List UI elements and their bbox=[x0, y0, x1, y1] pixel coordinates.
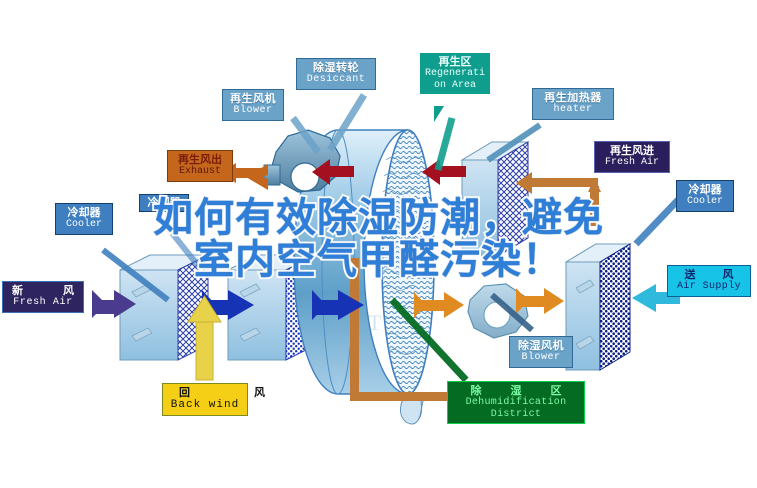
callout-tail-regeneration-area bbox=[434, 106, 444, 122]
label-exhaust[interactable]: 再生风出 Exhaust bbox=[167, 150, 233, 182]
dehumidifier-schematic: XT bbox=[0, 0, 757, 488]
label-desiccant-en: Desiccant bbox=[299, 74, 373, 85]
label-dehumidification-district-cn: 除 湿 区 bbox=[450, 385, 582, 397]
label-back-wind[interactable]: 回 风 Back wind bbox=[162, 383, 248, 416]
label-back-wind-en: Back wind bbox=[165, 399, 245, 411]
supply-filter-unit bbox=[566, 244, 630, 370]
diagram-canvas: XT bbox=[0, 0, 757, 488]
label-regeneration-area-en2: on Area bbox=[422, 80, 488, 91]
label-regeneration-area-cn: 再生区 bbox=[422, 56, 488, 68]
label-exhaust-cn: 再生风出 bbox=[170, 154, 230, 166]
regeneration-heater-unit bbox=[462, 142, 528, 256]
label-regeneration-fresh-air[interactable]: 再生风进 Fresh Air bbox=[594, 141, 670, 173]
label-regeneration-area[interactable]: 再生区 Regenerati on Area bbox=[420, 53, 490, 94]
label-dehumidification-district-en2: District bbox=[450, 409, 582, 420]
label-cooler-right[interactable]: 冷却器 Cooler bbox=[676, 180, 734, 212]
label-regeneration-blower-cn: 再生风机 bbox=[225, 93, 281, 105]
label-exhaust-en: Exhaust bbox=[170, 166, 230, 177]
label-dehumidification-blower-en: Blower bbox=[512, 352, 570, 363]
label-regeneration-fresh-air-en: Fresh Air bbox=[597, 157, 667, 168]
label-regeneration-blower-en: Blower bbox=[225, 105, 281, 116]
label-regeneration-heater[interactable]: 再生加热器 heater bbox=[532, 88, 614, 120]
label-regeneration-area-en1: Regenerati bbox=[422, 68, 488, 79]
label-fresh-air-en: Fresh Air bbox=[5, 297, 81, 308]
label-regeneration-blower[interactable]: 再生风机 Blower bbox=[222, 89, 284, 121]
label-cooler-middle[interactable]: 冷却器 bbox=[139, 194, 189, 212]
label-back-wind-cn: 回 风 bbox=[165, 387, 245, 399]
label-cooler-left[interactable]: 冷却器 Cooler bbox=[55, 203, 113, 235]
label-air-supply-cn: 送 风 bbox=[670, 269, 748, 281]
label-desiccant[interactable]: 除湿转轮 Desiccant bbox=[296, 58, 376, 90]
label-cooler-left-cn: 冷却器 bbox=[58, 207, 110, 219]
label-dehumidification-district-en1: Dehumidification bbox=[450, 397, 582, 408]
label-air-supply[interactable]: 送 风 Air Supply bbox=[667, 265, 751, 297]
label-desiccant-cn: 除湿转轮 bbox=[299, 62, 373, 74]
label-cooler-right-en: Cooler bbox=[679, 196, 731, 207]
label-dehumidification-blower-cn: 除湿风机 bbox=[512, 340, 570, 352]
label-cooler-left-en: Cooler bbox=[58, 219, 110, 230]
label-dehumidification-blower[interactable]: 除湿风机 Blower bbox=[509, 336, 573, 368]
label-regeneration-heater-en: heater bbox=[535, 104, 611, 115]
label-dehumidification-district[interactable]: 除 湿 区 Dehumidification District bbox=[447, 381, 585, 424]
label-regeneration-heater-cn: 再生加热器 bbox=[535, 92, 611, 104]
label-fresh-air-cn: 新 风 bbox=[5, 285, 81, 297]
label-air-supply-en: Air Supply bbox=[670, 281, 748, 292]
label-regeneration-fresh-air-cn: 再生风进 bbox=[597, 145, 667, 157]
label-cooler-middle-cn: 冷却器 bbox=[142, 197, 186, 209]
label-fresh-air[interactable]: 新 风 Fresh Air bbox=[2, 281, 84, 313]
label-cooler-right-cn: 冷却器 bbox=[679, 184, 731, 196]
